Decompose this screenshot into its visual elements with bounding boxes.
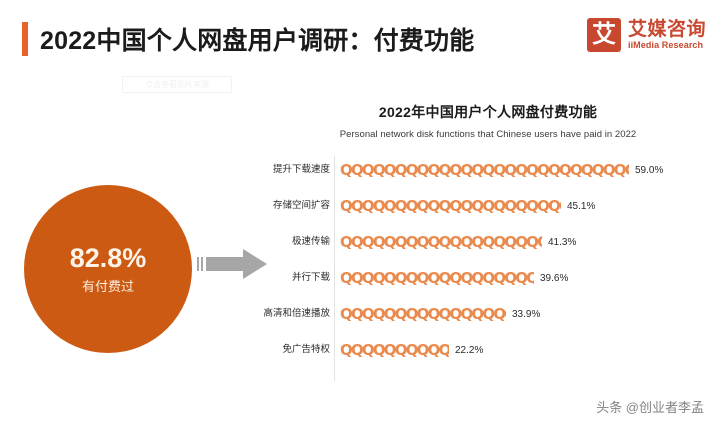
chart-bar-wrapper: QQQQQQQQQQQQQQQQQQQQQQQQQQQ45.1% [334,197,714,215]
chart-bar-row: 高清和倍速播放QQQQQQQQQQQQQQQQQQQQQ33.9% [262,298,714,330]
chart-bar-row: 存储空间扩容QQQQQQQQQQQQQQQQQQQQQQQQQQQ45.1% [262,190,714,222]
chart-category-label: 提升下载速度 [262,165,334,175]
chart-bar: QQQQQQQQQQQQQQQQQQQQQQQQ [340,270,534,287]
chart-title: 2022年中国用户个人网盘付费功能 [262,96,714,122]
chart-bar-row: 免广告特权QQQQQQQQQQQQQQQ22.2% [262,334,714,366]
chart-bar-rows: 提升下载速度QQQQQQQQQQQQQQQQQQQQQQQQQQQQQQQQQQ… [262,154,714,370]
title-accent-bar [22,22,28,56]
chart-bar-wrapper: QQQQQQQQQQQQQQQQQQQQQ33.9% [334,305,714,323]
chart-value-label: 41.3% [548,237,576,248]
chart-bar-row: 并行下载QQQQQQQQQQQQQQQQQQQQQQQQ39.6% [262,262,714,294]
slide-canvas: 2022中国个人网盘用户调研：付费功能 艾 艾媒咨询 iiMedia Resea… [0,0,720,426]
page-title: 2022中国个人网盘用户调研：付费功能 [40,21,474,57]
chart-value-label: 45.1% [567,201,595,212]
right-arrow-icon [197,243,269,285]
chart-category-label: 极速传输 [262,237,334,247]
stat-circle: 82.8% 有付费过 [24,185,192,353]
chart-bar: QQQQQQQQQQQQQQQ [340,342,449,359]
logo-mark-glyph: 艾 [587,18,621,52]
chart-bar-wrapper: QQQQQQQQQQQQQQQQQQQQQQQQQQQQQQQQQQQ59.0% [334,161,714,179]
chart-category-label: 免广告特权 [262,345,334,355]
chart-bar-row: 极速传输QQQQQQQQQQQQQQQQQQQQQQQQQ41.3% [262,226,714,258]
chart-bar-wrapper: QQQQQQQQQQQQQQQ22.2% [334,341,714,359]
chart-value-label: 39.6% [540,273,568,284]
logo-text: 艾媒咨询 iiMedia Research [628,20,706,51]
brand-logo: 艾 艾媒咨询 iiMedia Research [587,18,706,52]
chart-bar: QQQQQQQQQQQQQQQQQQQQQ [340,306,506,323]
chart-category-label: 存储空间扩容 [262,201,334,211]
chart-value-label: 59.0% [635,165,663,176]
chart-bar-row: 提升下载速度QQQQQQQQQQQQQQQQQQQQQQQQQQQQQQQQQQ… [262,154,714,186]
logo-name-cn: 艾媒咨询 [628,20,706,40]
chart-category-label: 高清和倍速播放 [262,309,334,319]
chart-panel: 2022年中国用户个人网盘付费功能 Personal network disk … [262,96,714,386]
chart-value-label: 33.9% [512,309,540,320]
chart-plot-area: 提升下载速度QQQQQQQQQQQQQQQQQQQQQQQQQQQQQQQQQQ… [262,154,714,384]
watermark: 头条 @创业者李孟 [596,397,704,416]
chart-bar-wrapper: QQQQQQQQQQQQQQQQQQQQQQQQ39.6% [334,269,714,287]
chart-bar: QQQQQQQQQQQQQQQQQQQQQQQQQ [340,234,542,251]
logo-name-en: iiMedia Research [628,40,706,51]
stat-circle-value: 82.8% [70,245,147,272]
chart-subtitle: Personal network disk functions that Chi… [262,129,714,140]
chart-bar: QQQQQQQQQQQQQQQQQQQQQQQQQQQ [340,198,561,215]
image-source-chip[interactable]: 点击查看图片来源 [122,76,232,93]
chart-bar: QQQQQQQQQQQQQQQQQQQQQQQQQQQQQQQQQQQ [340,162,629,179]
chart-bar-wrapper: QQQQQQQQQQQQQQQQQQQQQQQQQ41.3% [334,233,714,251]
stat-circle-caption: 有付费过 [82,280,134,293]
chart-value-label: 22.2% [455,345,483,356]
logo-mark-icon: 艾 [587,18,621,52]
chart-category-label: 并行下载 [262,273,334,283]
header: 2022中国个人网盘用户调研：付费功能 艾 艾媒咨询 iiMedia Resea… [0,0,720,72]
